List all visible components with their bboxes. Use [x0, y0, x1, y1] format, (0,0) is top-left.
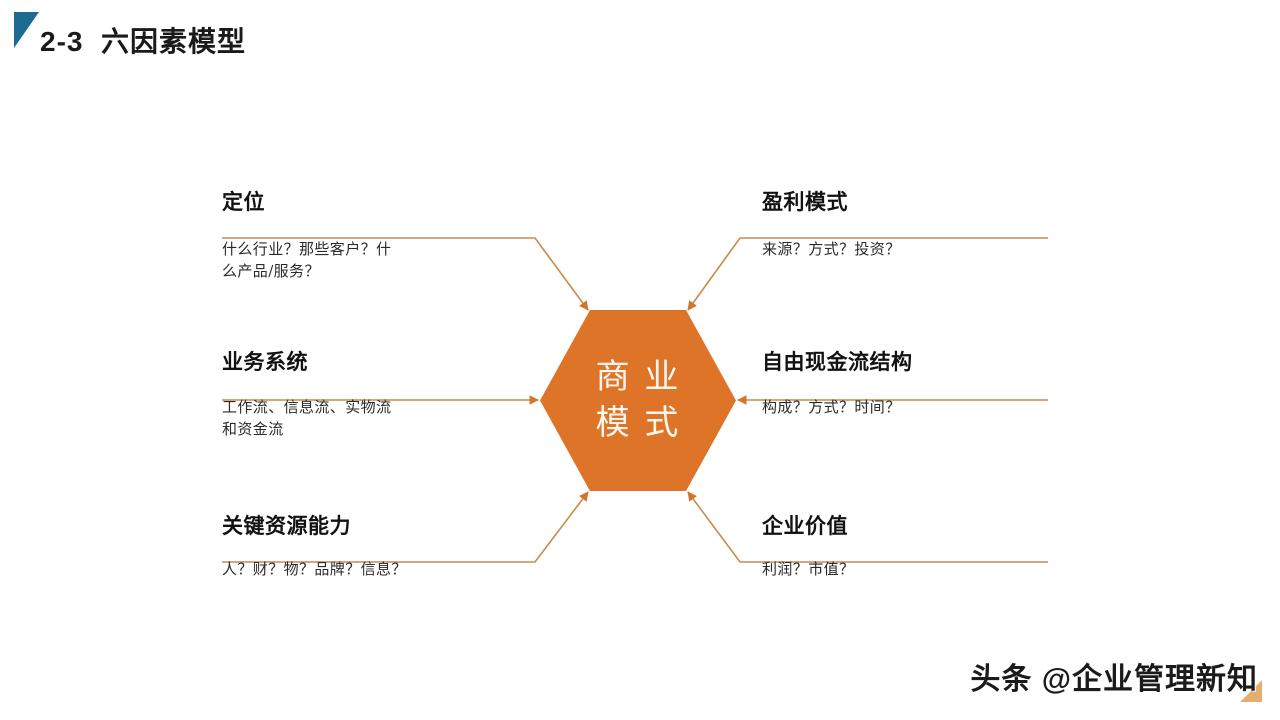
factor-profit-model-heading: 盈利模式	[762, 190, 1092, 215]
factor-enterprise-value-description: 利润？市值？	[762, 559, 1012, 581]
factor-free-cash-flow-heading: 自由现金流结构	[762, 350, 1092, 375]
factor-profit-model: 盈利模式 来源？方式？投资？	[762, 190, 1092, 261]
center-hexagon: 商 业 模 式	[540, 310, 736, 491]
factor-enterprise-value: 企业价值 利润？市值？	[762, 514, 1092, 581]
factor-key-resources-description: 人？财？物？品牌？信息？	[222, 559, 472, 581]
factor-business-system: 业务系统 工作流、信息流、实物流 和资金流	[222, 350, 552, 441]
slide-canvas: 2-3 六因素模型	[0, 0, 1280, 720]
watermark-text: 头条 @企业管理新知	[970, 654, 1258, 698]
factor-free-cash-flow-description: 构成？方式？时间？	[762, 397, 1012, 419]
factor-positioning-heading: 定位	[222, 190, 552, 215]
six-factor-diagram: 商 业 模 式 定位 什么行业？那些客户？什 么产品/服务？ 盈利模式 来源？方…	[0, 0, 1280, 720]
factor-free-cash-flow: 自由现金流结构 构成？方式？时间？	[762, 350, 1092, 419]
factor-enterprise-value-heading: 企业价值	[762, 514, 1092, 539]
factor-key-resources-heading: 关键资源能力	[222, 514, 552, 539]
factor-positioning-description: 什么行业？那些客户？什 么产品/服务？	[222, 239, 472, 283]
factor-key-resources: 关键资源能力 人？财？物？品牌？信息？	[222, 514, 552, 581]
factor-profit-model-description: 来源？方式？投资？	[762, 239, 1012, 261]
factor-business-system-heading: 业务系统	[222, 350, 552, 375]
hexagon-label: 商 业 模 式	[540, 310, 736, 491]
factor-positioning: 定位 什么行业？那些客户？什 么产品/服务？	[222, 190, 552, 283]
factor-business-system-description: 工作流、信息流、实物流 和资金流	[222, 397, 472, 441]
hexagon-label-line-2: 模 式	[596, 401, 681, 447]
hexagon-label-line-1: 商 业	[596, 355, 681, 401]
